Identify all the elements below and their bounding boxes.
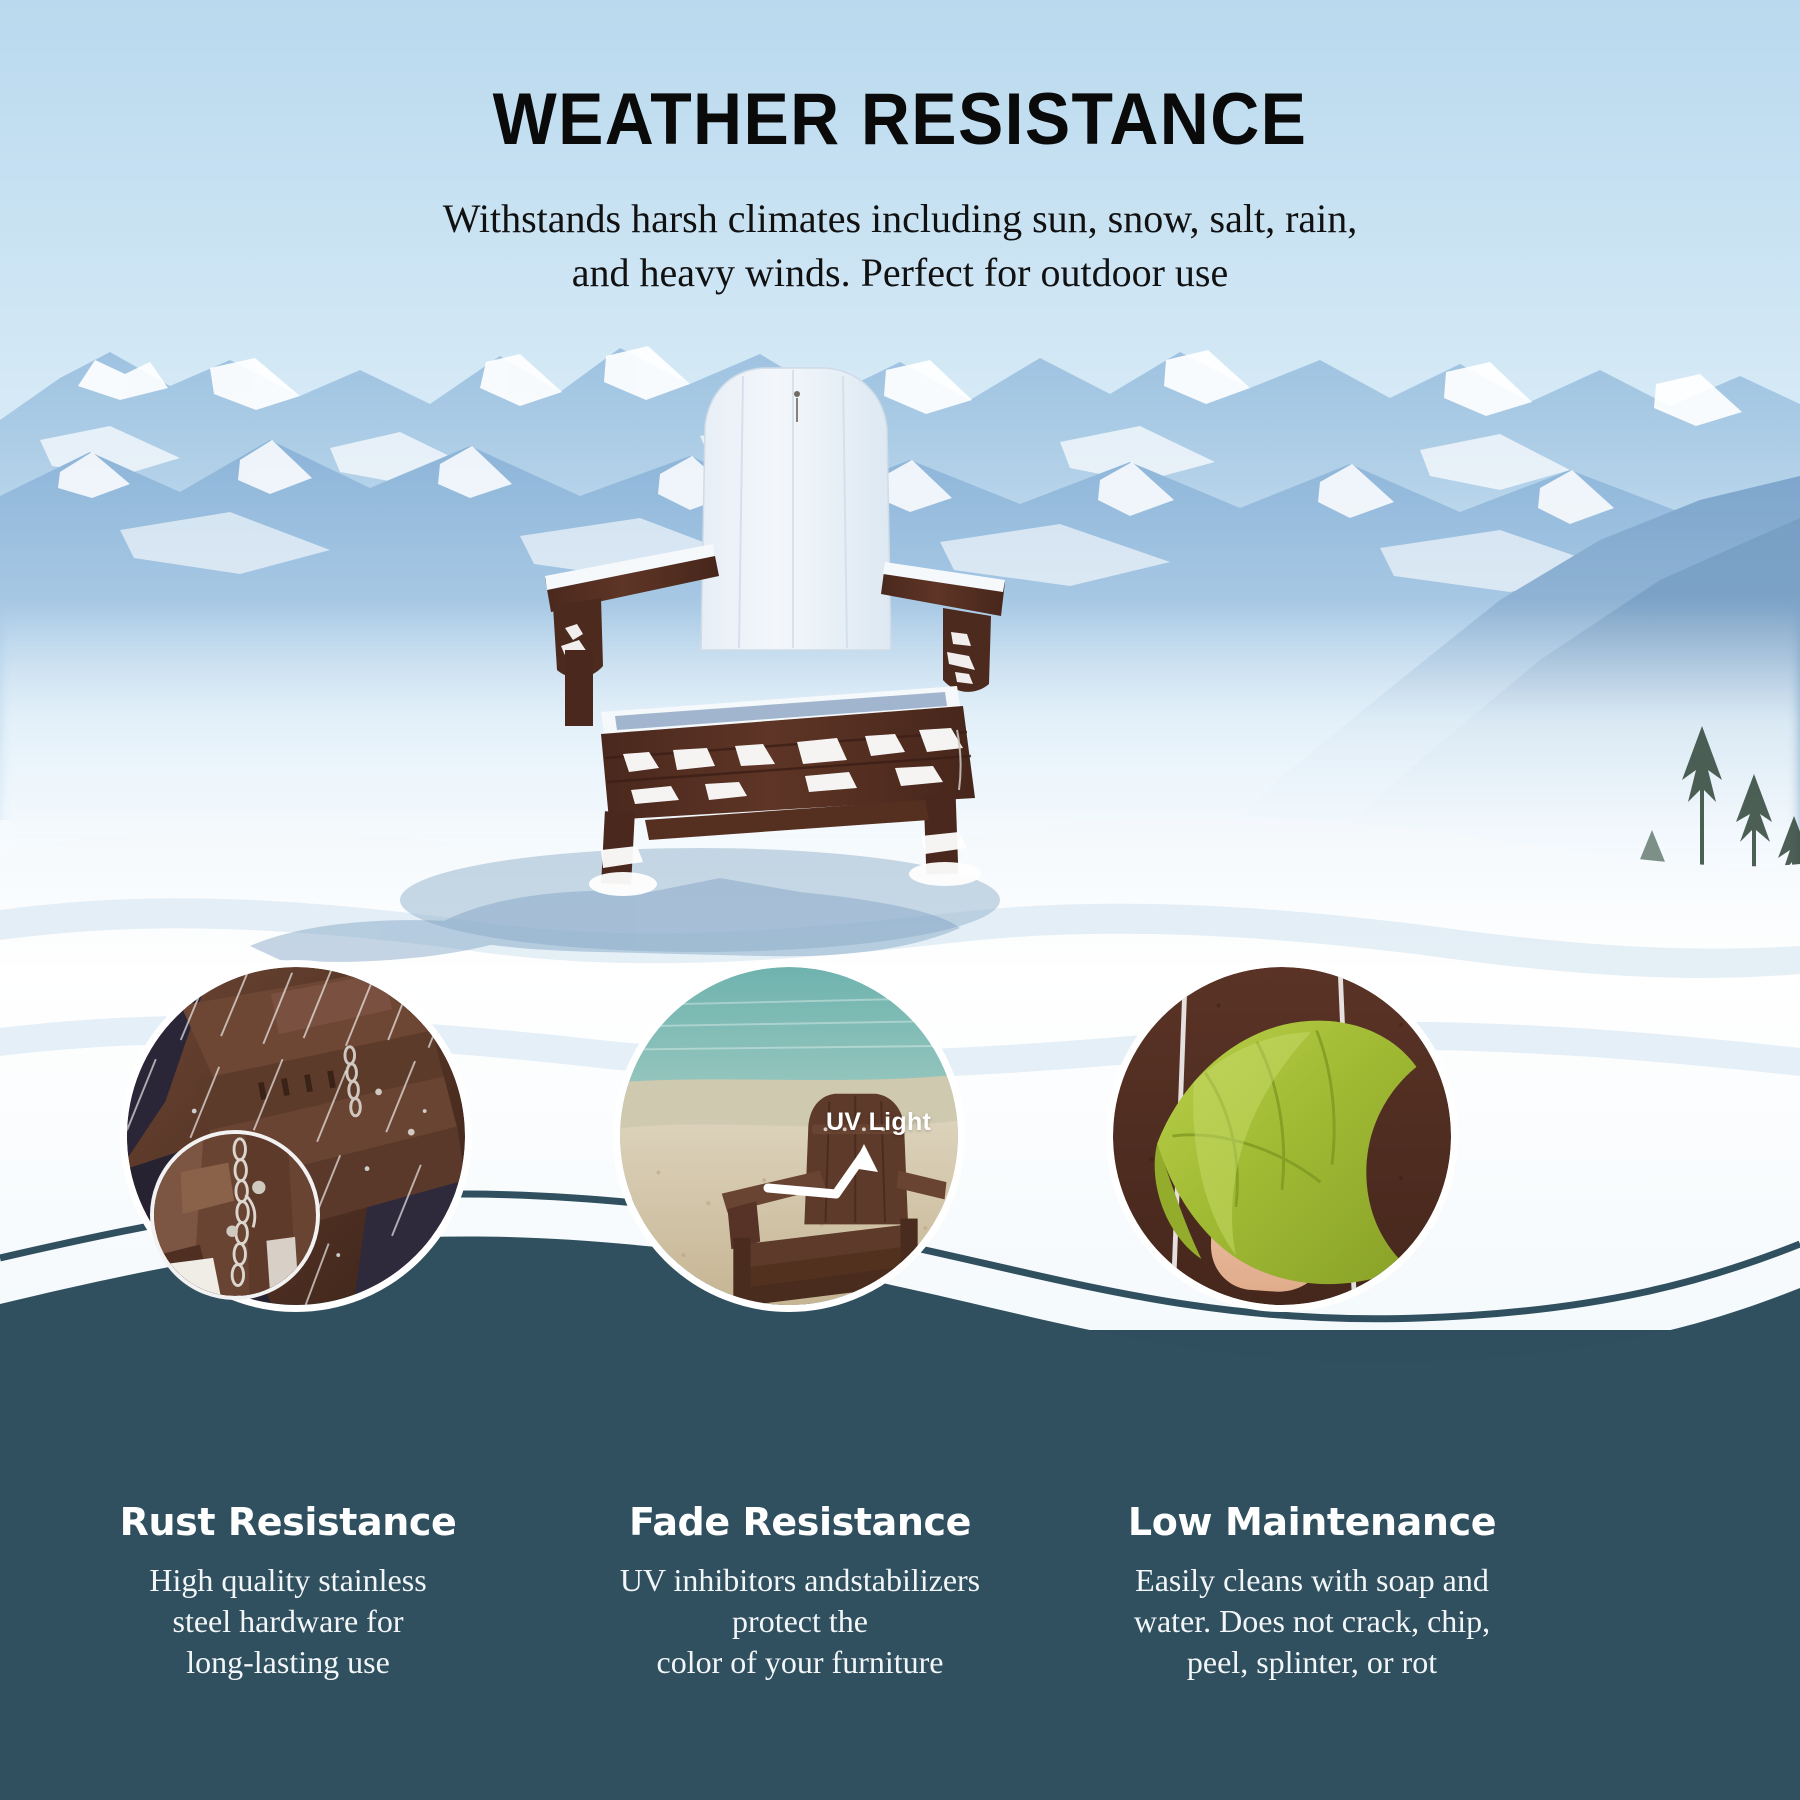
uv-light-arrow-icon [760, 1138, 890, 1208]
feature-card-low-maintenance: Low Maintenance Easily cleans with soap … [1052, 1500, 1572, 1683]
feature-desc-line-2: water. Does not crack, chip, [1134, 1603, 1490, 1639]
feature-desc-line-3: color of your furniture [656, 1644, 943, 1680]
feature-card-rust-resistance: Rust Resistance High quality stainless s… [28, 1500, 548, 1683]
page-subtitle: Withstands harsh climates including sun,… [300, 192, 1500, 300]
feature-description: Easily cleans with soap and water. Does … [1052, 1560, 1572, 1683]
feature-title: Low Maintenance [1052, 1500, 1572, 1544]
feature-desc-line-1: UV inhibitors andstabilizers [620, 1562, 980, 1598]
feature-desc-line-3: long-lasting use [186, 1644, 390, 1680]
adirondack-chair-illustration [505, 350, 1045, 910]
feature-desc-line-1: Easily cleans with soap and [1135, 1562, 1489, 1598]
feature-description: UV inhibitors andstabilizers protect the… [540, 1560, 1060, 1683]
feature-title: Rust Resistance [28, 1500, 548, 1544]
feature-desc-line-2: steel hardware for [173, 1603, 404, 1639]
feature-description: High quality stainless steel hardware fo… [28, 1560, 548, 1683]
uv-light-label: UV Light [826, 1108, 931, 1137]
feature-inset-chain-closeup [150, 1130, 320, 1300]
infographic-canvas: WEATHER RESISTANCE Withstands harsh clim… [0, 0, 1800, 1800]
page-title: WEATHER RESISTANCE [63, 78, 1737, 161]
feature-desc-line-1: High quality stainless [149, 1562, 426, 1598]
subtitle-line-1: Withstands harsh climates including sun,… [300, 192, 1500, 246]
feature-image-low-maintenance [1106, 960, 1458, 1312]
feature-desc-line-3: peel, splinter, or rot [1187, 1644, 1437, 1680]
feature-card-fade-resistance: Fade Resistance UV inhibitors andstabili… [540, 1500, 1060, 1683]
feature-desc-line-2: protect the [732, 1603, 868, 1639]
subtitle-line-2: and heavy winds. Perfect for outdoor use [300, 246, 1500, 300]
feature-title: Fade Resistance [540, 1500, 1060, 1544]
